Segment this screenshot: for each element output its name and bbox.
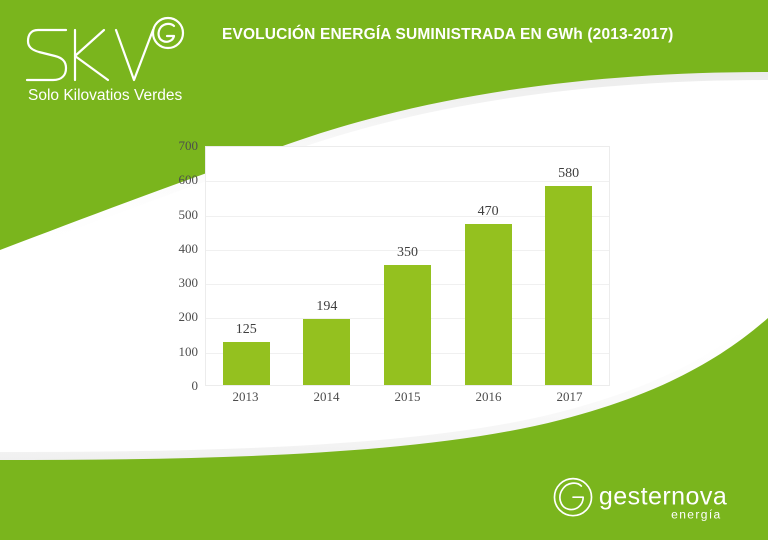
x-tick-2014: 2014 [286, 389, 367, 405]
skv-logo: Solo Kilovatios Verdes [22, 14, 192, 104]
bar-series: 125 194 350 470 580 [206, 147, 609, 385]
bar-slot: 580 [528, 147, 609, 385]
bar-2017[interactable] [545, 186, 592, 385]
y-tick-0: 0 [192, 378, 199, 394]
x-tick-2017: 2017 [529, 389, 610, 405]
bar-2013[interactable] [223, 342, 270, 385]
x-tick-2013: 2013 [205, 389, 286, 405]
gesternova-tagline: energía [671, 507, 721, 521]
y-tick-400: 400 [179, 241, 199, 257]
y-tick-200: 200 [179, 309, 199, 325]
bar-2015[interactable] [384, 265, 431, 385]
y-tick-500: 500 [179, 207, 199, 223]
bar-value-2017: 580 [558, 166, 579, 182]
x-tick-2015: 2015 [367, 389, 448, 405]
y-axis: 700 600 500 400 300 200 100 0 [150, 136, 198, 386]
skv-logo-mark: Solo Kilovatios Verdes [22, 14, 192, 104]
gesternova-logo-mark: gesternova energía [550, 474, 746, 524]
y-tick-700: 700 [179, 138, 199, 154]
bar-value-2016: 470 [478, 204, 499, 220]
bar-slot: 470 [448, 147, 529, 385]
plot-area: 125 194 350 470 580 [205, 146, 610, 386]
bar-value-2015: 350 [397, 245, 418, 261]
y-tick-600: 600 [179, 172, 199, 188]
bar-2016[interactable] [465, 224, 512, 385]
bar-value-2013: 125 [236, 322, 257, 338]
y-tick-100: 100 [179, 344, 199, 360]
x-tick-2016: 2016 [448, 389, 529, 405]
bar-slot: 125 [206, 147, 287, 385]
bar-2014[interactable] [303, 319, 350, 386]
gesternova-wordmark-text: gesternova [599, 483, 727, 511]
bar-slot: 194 [287, 147, 368, 385]
bar-chart: 700 600 500 400 300 200 100 0 125 194 35… [150, 136, 630, 421]
bar-value-2014: 194 [316, 299, 337, 315]
y-tick-300: 300 [179, 275, 199, 291]
gesternova-logo: gesternova energía [550, 474, 746, 524]
skv-tagline: Solo Kilovatios Verdes [28, 87, 182, 104]
x-axis: 2013 2014 2015 2016 2017 [205, 389, 610, 405]
bar-slot: 350 [367, 147, 448, 385]
